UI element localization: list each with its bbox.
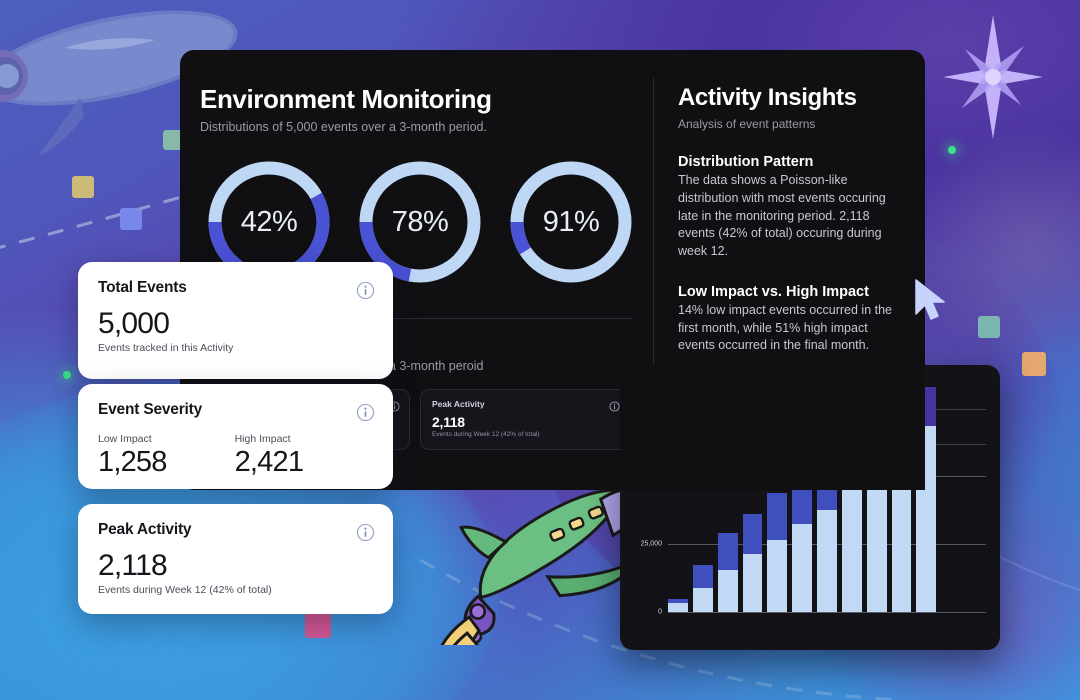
info-icon[interactable] [356,523,375,547]
bar-segment-low-impact [743,554,763,612]
sparkle-star [938,12,1048,152]
square-orange [1022,352,1046,376]
card-label-high-impact: High Impact [235,433,304,445]
bar-segment-low-impact [817,510,837,612]
insights-subtitle: Analysis of event patterns [678,117,903,131]
square-blue [120,208,142,230]
floating-card-peak-activity[interactable]: Peak Activity 2,118 Events during Week 1… [78,504,393,614]
insight-heading-distribution: Distribution Pattern [678,154,903,170]
bar-segment-low-impact [842,486,862,612]
window-occlusion-patch [620,365,925,490]
page-title: Environment Monitoring [200,84,630,115]
insight-body-impact: 14% low impact events occurred in the fi… [678,302,893,355]
bar-segment-low-impact [718,570,738,612]
insight-body-distribution: The data shows a Poisson-like distributi… [678,172,893,261]
bar-segment-high-impact [718,533,738,570]
y-axis-tick-label: 0 [658,609,662,616]
bar-column [718,533,738,612]
info-icon[interactable] [356,281,375,305]
bar-segment-high-impact [693,565,713,588]
stat-card-peak-activity[interactable]: Peak Activity 2,118 Events during Week 1… [420,389,630,450]
dot-green-right [948,146,956,154]
card-value-high-impact: 2,421 [235,446,304,479]
square-pink [305,612,331,638]
square-teal-mid [978,316,1000,338]
bar-column [767,493,787,612]
bar-segment-high-impact [743,514,763,553]
y-axis-tick-label: 25,000 [641,541,662,548]
insights-title: Activity Insights [678,84,903,112]
donut-gauge-91: 91% [505,156,637,288]
bar-column [792,479,812,612]
square-yellow [72,176,94,198]
info-icon[interactable] [609,399,620,417]
card-caption: Events during Week 12 (42% of total) [98,584,373,596]
card-title: Event Severity [98,401,373,419]
gridline [668,612,986,613]
info-icon[interactable] [356,403,375,427]
bar-column [743,514,763,612]
card-value-low-impact: 1,258 [98,446,167,479]
bar-segment-high-impact [767,493,787,540]
bar-column [668,599,688,612]
insight-heading-impact: Low Impact vs. High Impact [678,284,903,300]
bar-segment-low-impact [668,603,688,612]
card-label-low-impact: Low Impact [98,433,167,445]
bar-segment-low-impact [693,588,713,612]
stat-card-title: Peak Activity [432,399,618,409]
card-title: Peak Activity [98,521,373,539]
donut-value-label: 91% [505,156,637,288]
card-title: Total Events [98,279,373,297]
bar-segment-low-impact [767,540,787,612]
floating-card-event-severity[interactable]: Event Severity Low Impact 1,258 High Imp… [78,384,393,489]
stat-note-peak: Events during Week 12 (42% of total) [432,431,618,438]
stat-value-peak: 2,118 [432,414,618,430]
card-value: 5,000 [98,307,373,341]
page-subtitle: Distributions of 5,000 events over a 3-m… [200,120,630,134]
mouse-cursor [912,278,952,326]
dot-green-left [63,371,71,379]
bar-column [693,565,713,612]
floating-card-total-events[interactable]: Total Events 5,000 Events tracked in thi… [78,262,393,379]
card-caption: Events tracked in this Activity [98,342,373,354]
bar-segment-low-impact [792,524,812,612]
card-value: 2,118 [98,549,373,583]
